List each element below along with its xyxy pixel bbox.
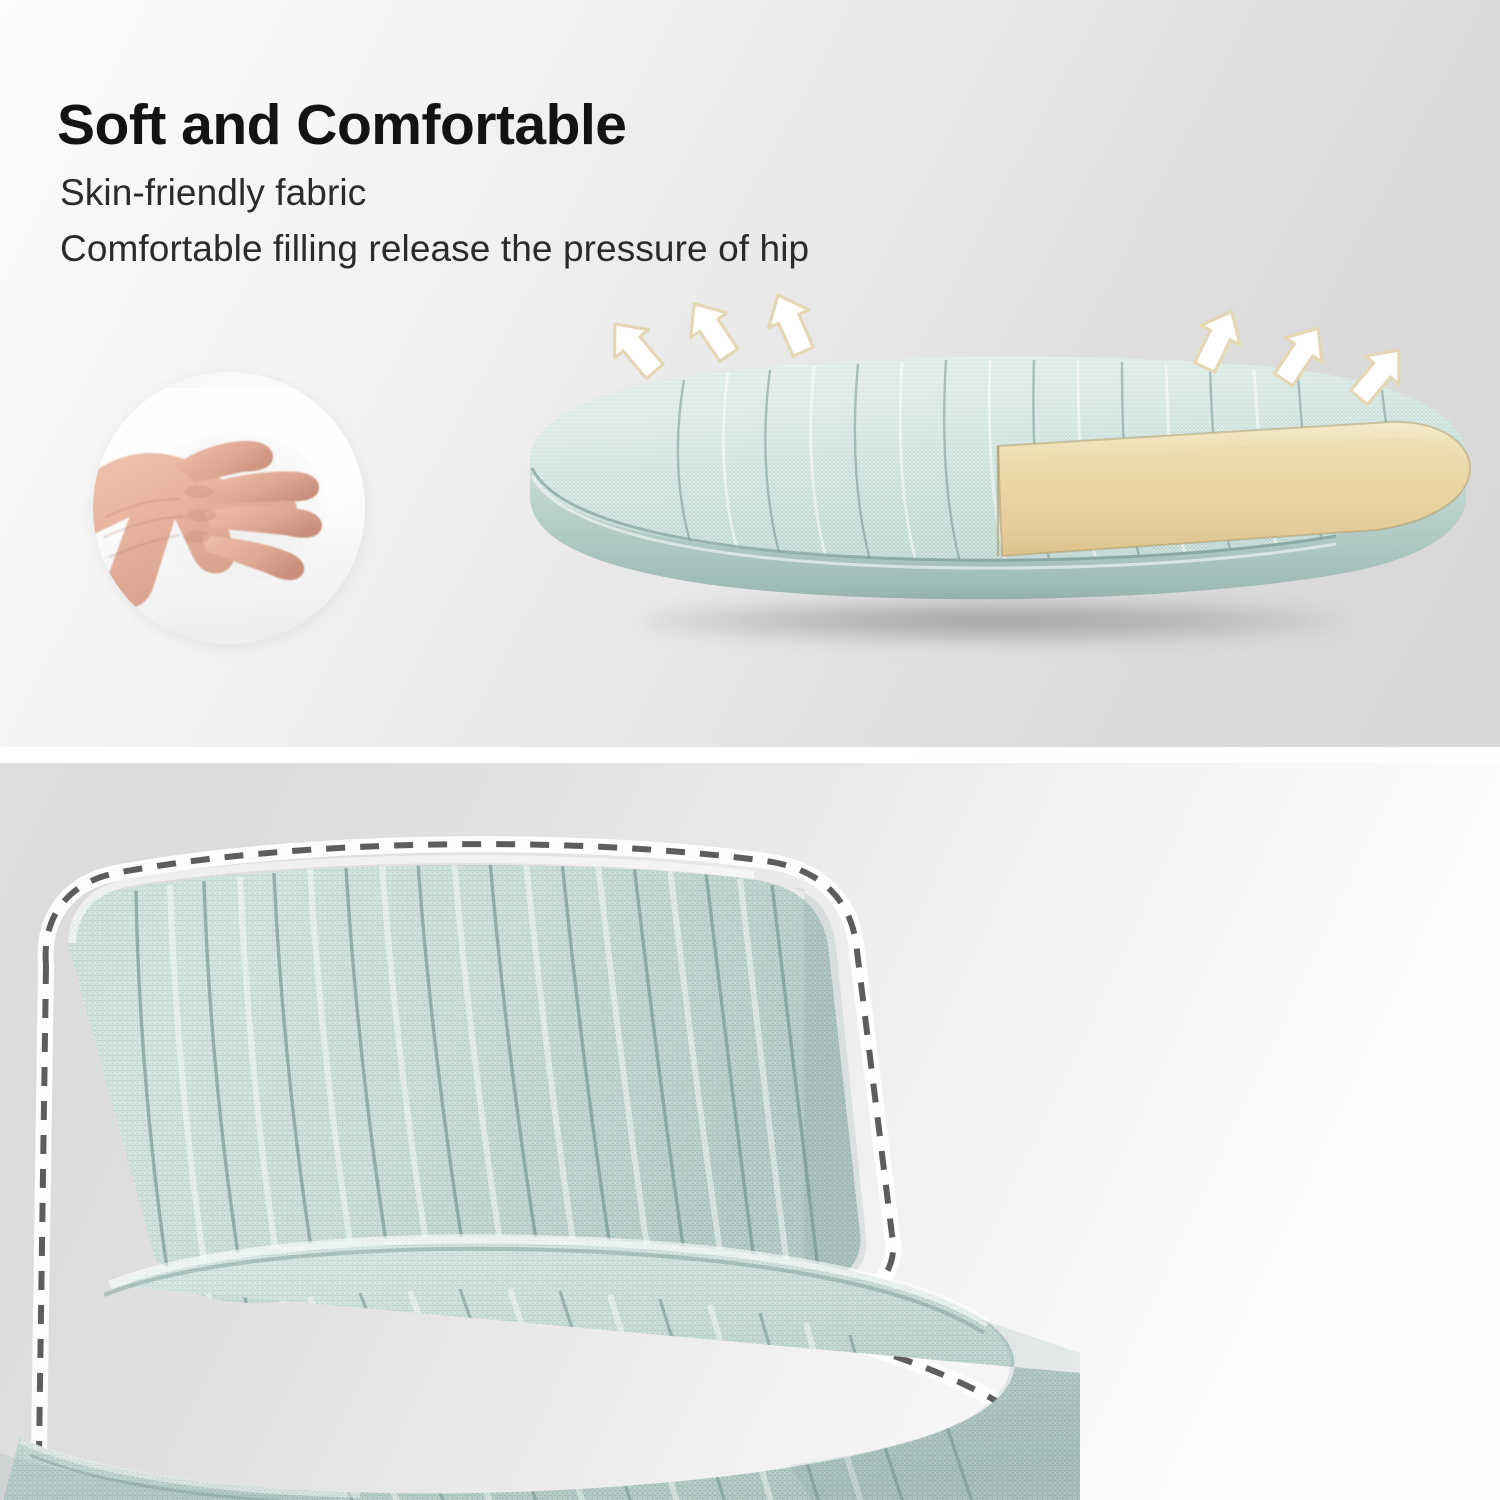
seat-cushion-cutaway <box>470 310 1500 700</box>
hand-pressing-foam-photo <box>93 372 365 644</box>
hand-icon <box>93 410 365 628</box>
infographic-stage: Soft and Comfortable Skin-friendly fabri… <box>0 0 1500 1500</box>
pressure-arrow-icon <box>598 310 672 386</box>
chair-backrest <box>0 833 1080 1500</box>
chair-backrest-and-seat <box>0 833 1060 1500</box>
pressure-arrow-icon <box>676 291 747 367</box>
panel-spacious-ergonomic-backrest: Spacious Ergonomic Backrest Perfectly fi… <box>0 763 1500 1500</box>
subtitle-skin-friendly: Skin-friendly fabric <box>60 172 366 214</box>
panel-soft-and-comfortable: Soft and Comfortable Skin-friendly fabri… <box>0 0 1500 747</box>
subtitle-comfortable-filling: Comfortable filling release the pressure… <box>60 228 809 270</box>
panel-divider <box>0 747 1500 763</box>
pressure-arrow-icon <box>758 286 823 361</box>
page-title-soft-comfortable: Soft and Comfortable <box>57 92 627 158</box>
chair-illustration <box>0 833 1080 1500</box>
cushion-illustration <box>470 310 1500 640</box>
cushion-drop-shadow <box>640 598 1340 644</box>
